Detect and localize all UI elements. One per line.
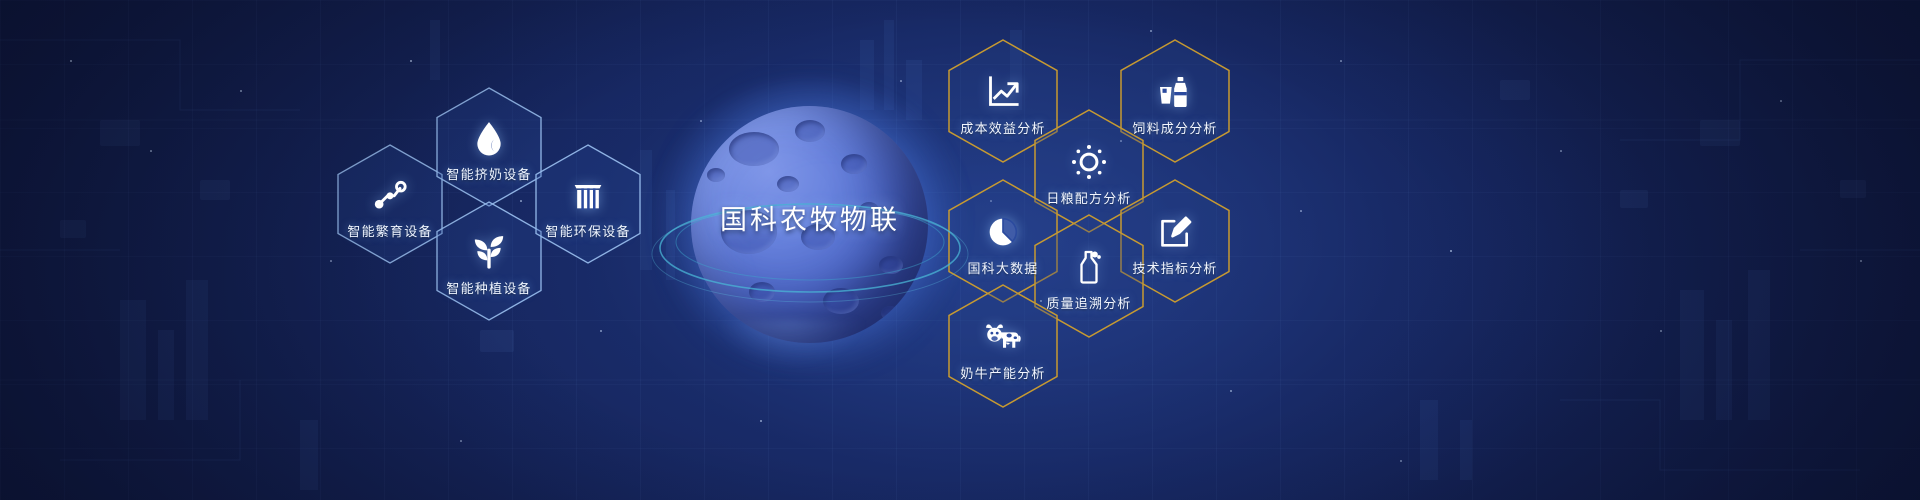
milk-bottle-cup-icon	[1155, 72, 1195, 112]
hex-label: 智能挤奶设备	[446, 164, 531, 183]
trash-bin-icon	[568, 175, 608, 215]
iot-platform-banner: 国科农牧物联 智能繁育设备 智能挤奶设备	[0, 0, 1920, 500]
hex-smart-breeding[interactable]: 智能繁育设备	[335, 143, 445, 265]
comet-tail	[696, 320, 886, 440]
hex-smart-milking[interactable]: 智能挤奶设备	[434, 86, 544, 208]
cow-icon	[983, 317, 1023, 357]
page-title: 国科农牧物联	[640, 198, 980, 237]
hex-label: 国科大数据	[967, 258, 1038, 277]
hex-label: 智能繁育设备	[347, 221, 432, 240]
hex-label: 智能种植设备	[446, 278, 531, 297]
breeding-node-icon	[370, 175, 410, 215]
pie-chart-icon	[983, 212, 1023, 252]
hex-cow-capacity-analysis[interactable]: 奶牛产能分析	[946, 283, 1060, 409]
milk-drop-icon	[469, 118, 509, 158]
hex-smart-planting[interactable]: 智能种植设备	[434, 200, 544, 322]
bottle-icon	[1069, 247, 1109, 287]
hex-label: 智能环保设备	[545, 221, 630, 240]
plant-sprout-icon	[469, 232, 509, 272]
line-chart-icon	[983, 72, 1023, 112]
edit-pencil-icon	[1155, 212, 1195, 252]
hex-smart-environment[interactable]: 智能环保设备	[533, 143, 643, 265]
sun-icon	[1069, 142, 1109, 182]
hex-label: 奶牛产能分析	[960, 363, 1045, 382]
